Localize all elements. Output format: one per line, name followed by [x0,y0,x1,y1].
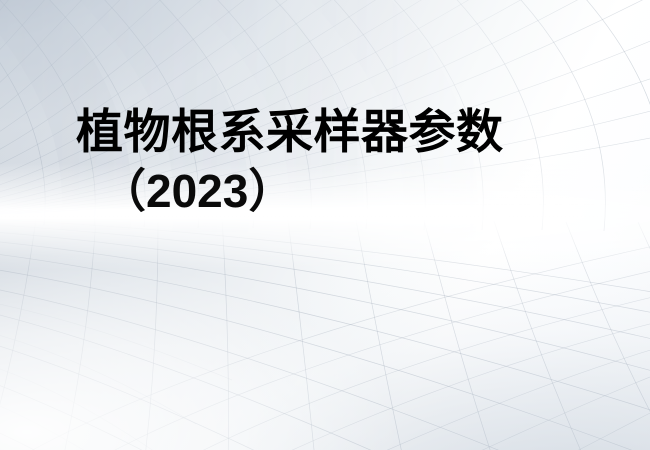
slide-title-block: 植物根系采样器参数 （2023） [0,104,650,218]
page-title-year: （2023） [0,159,650,217]
title-slide: 植物根系采样器参数 （2023） [0,0,650,450]
page-title: 植物根系采样器参数 [0,104,650,159]
background-mesh-pattern [0,0,650,450]
